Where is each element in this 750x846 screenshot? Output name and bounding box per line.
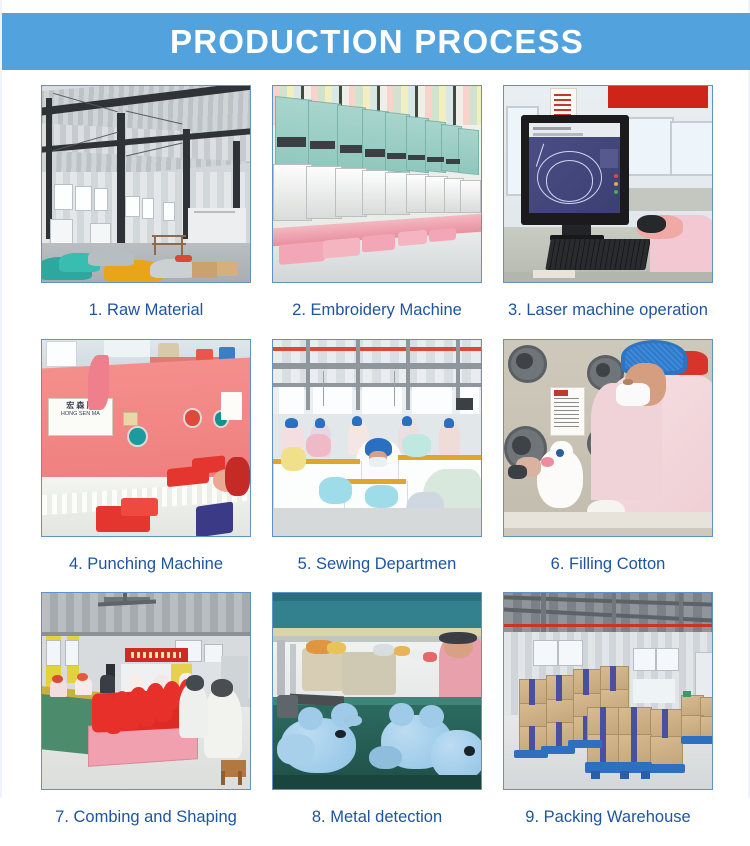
- punching-machine-photo[interactable]: 宏 森 牌 HONG SEN MA: [41, 339, 251, 537]
- process-step-6[interactable]: 6. Filling Cotton: [502, 339, 714, 593]
- process-step-2-caption: 2. Embroidery Machine: [292, 283, 462, 339]
- process-step-9[interactable]: 9. Packing Warehouse: [502, 592, 714, 846]
- process-step-3-caption: 3. Laser machine operation: [508, 283, 708, 339]
- process-grid: 1. Raw Material: [40, 85, 714, 846]
- embroidery-machine-photo[interactable]: [272, 85, 482, 283]
- process-step-1[interactable]: 1. Raw Material: [40, 85, 252, 339]
- process-row-2: 宏 森 牌 HONG SEN MA: [40, 339, 714, 593]
- process-step-3[interactable]: 3. Laser machine operation: [502, 85, 714, 339]
- punching-machine-label-en: HONG SEN MA: [49, 411, 111, 418]
- combing-and-shaping-photo[interactable]: [41, 592, 251, 790]
- page-header-banner: PRODUCTION PROCESS: [2, 13, 750, 70]
- process-step-4-caption: 4. Punching Machine: [69, 537, 223, 593]
- process-step-1-caption: 1. Raw Material: [89, 283, 204, 339]
- process-step-2[interactable]: 2. Embroidery Machine: [271, 85, 483, 339]
- process-step-6-caption: 6. Filling Cotton: [551, 537, 666, 593]
- filling-cotton-photo[interactable]: [503, 339, 713, 537]
- process-step-5-caption: 5. Sewing Departmen: [298, 537, 457, 593]
- page-title: PRODUCTION PROCESS: [170, 25, 584, 58]
- laser-machine-operation-photo[interactable]: [503, 85, 713, 283]
- metal-detection-photo-cell[interactable]: 8. Metal detection: [271, 592, 483, 846]
- sewing-department-photo[interactable]: [272, 339, 482, 537]
- process-row-3: 7. Combing and Shaping: [40, 592, 714, 846]
- process-step-7-caption: 7. Combing and Shaping: [55, 790, 237, 846]
- process-step-9-caption: 9. Packing Warehouse: [525, 790, 690, 846]
- process-step-5[interactable]: 5. Sewing Departmen: [271, 339, 483, 593]
- metal-detection-photo[interactable]: [272, 592, 482, 790]
- process-row-1: 1. Raw Material: [40, 85, 714, 339]
- packing-warehouse-photo[interactable]: [503, 592, 713, 790]
- process-step-4[interactable]: 宏 森 牌 HONG SEN MA: [40, 339, 252, 593]
- process-step-7[interactable]: 7. Combing and Shaping: [40, 592, 252, 846]
- production-process-page: PRODUCTION PROCESS: [0, 0, 750, 798]
- process-step-8-caption: 8. Metal detection: [312, 790, 442, 846]
- raw-material-warehouse-photo[interactable]: [41, 85, 251, 283]
